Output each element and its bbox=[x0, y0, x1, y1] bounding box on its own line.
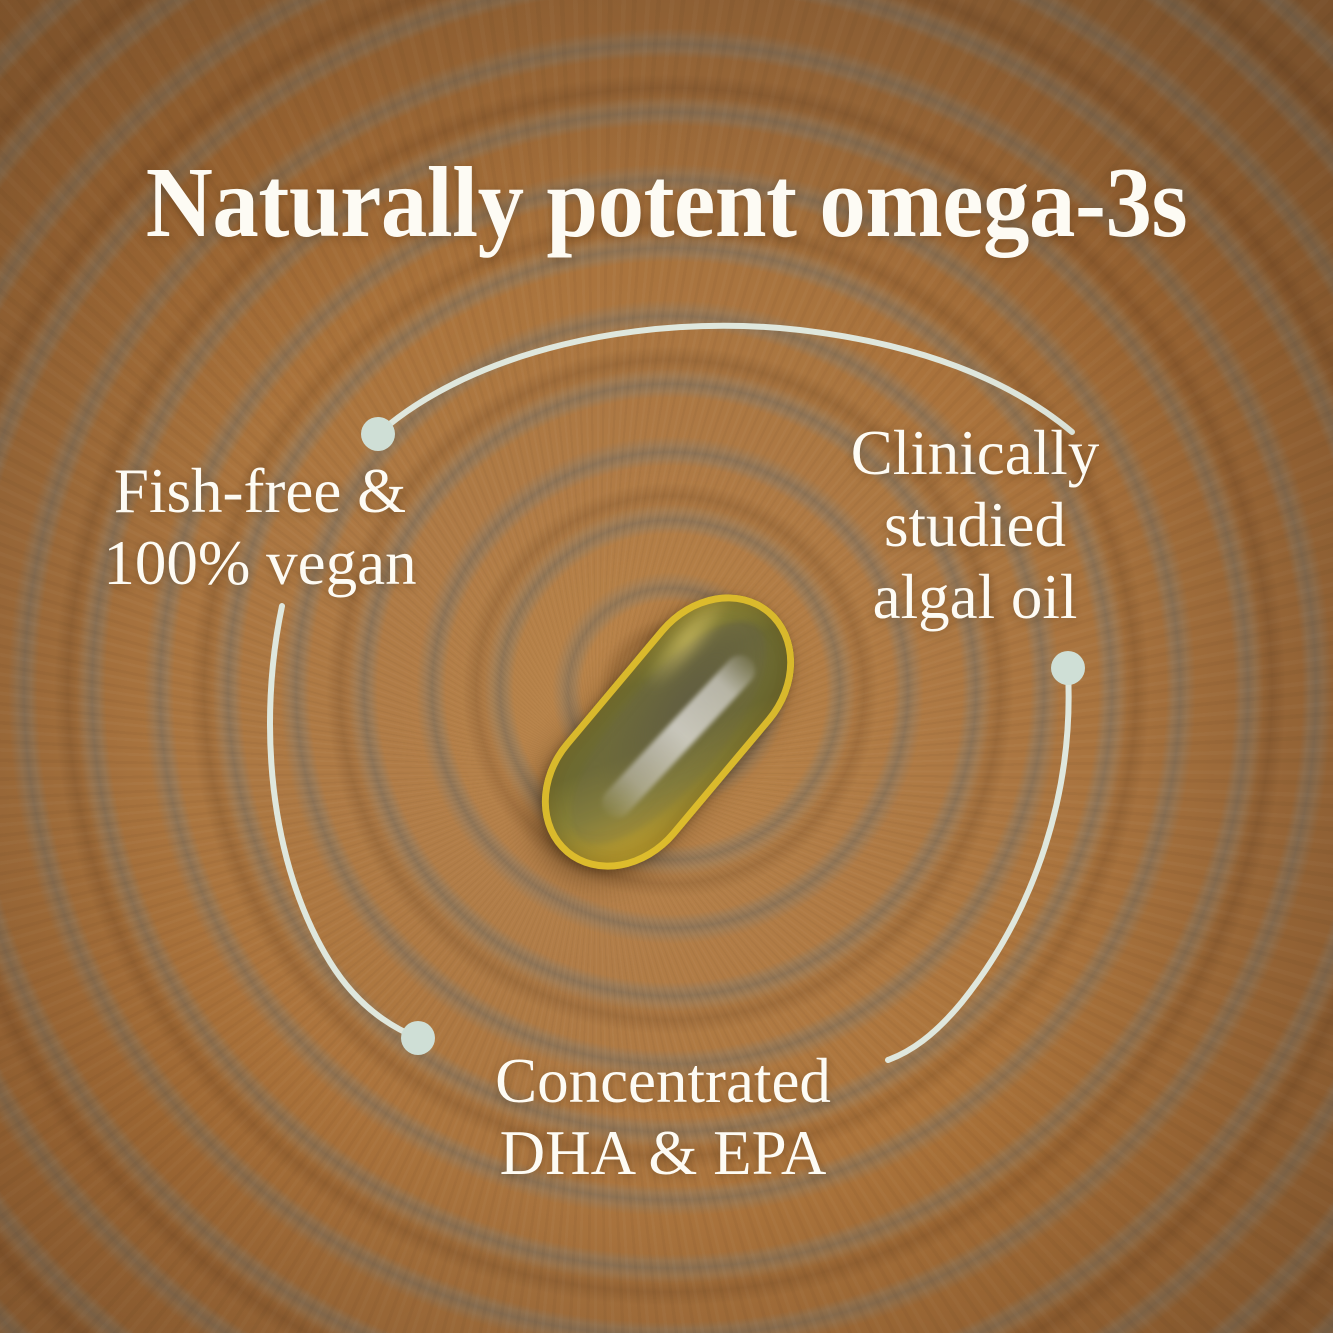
callout-fish-free-line-2: 100% vegan bbox=[0, 528, 520, 600]
capsule-body bbox=[509, 562, 827, 901]
product-feature-image: Naturally potent omega-3s Fish-free & 10… bbox=[0, 0, 1333, 1333]
callout-dha-epa-line-2: DHA & EPA bbox=[400, 1118, 926, 1190]
headline: Naturally potent omega-3s bbox=[53, 152, 1279, 253]
callout-dha-epa-line-1: Concentrated bbox=[400, 1046, 926, 1118]
callout-fish-free: Fish-free & 100% vegan bbox=[0, 456, 520, 600]
capsule-rim bbox=[509, 562, 827, 901]
callout-algal-oil-line-3: algal oil bbox=[812, 562, 1138, 634]
callout-dha-epa: Concentrated DHA & EPA bbox=[400, 1046, 926, 1190]
callout-algal-oil: Clinically studied algal oil bbox=[812, 418, 1138, 633]
callout-fish-free-line-1: Fish-free & bbox=[0, 456, 520, 528]
callout-algal-oil-line-1: Clinically bbox=[812, 418, 1138, 490]
callout-algal-oil-line-2: studied bbox=[812, 490, 1138, 562]
softgel-capsule bbox=[543, 589, 793, 874]
